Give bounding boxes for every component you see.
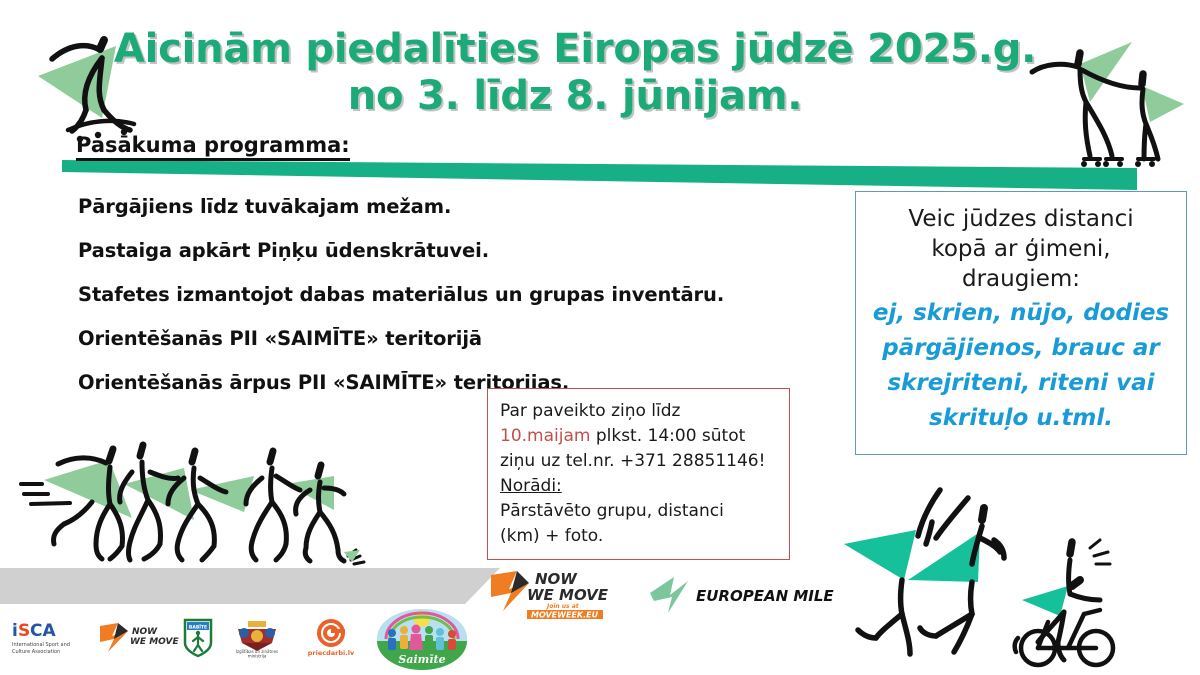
nwm-tag: MOVEWEEK.EU [531, 611, 599, 620]
callout-head-line-1: Veic jūdzes distanci [866, 204, 1176, 234]
babite-label: BABĪTE [189, 624, 207, 631]
sponsor-saimite-kindergarten: Saimīte [376, 607, 468, 669]
now-we-move-mark-icon [491, 571, 529, 611]
callout-body-line-4: skrituļo u.tml. [866, 403, 1176, 434]
european-mile-mark-icon [650, 577, 688, 613]
sponsor-ministry-of-education: Izglītības un zinātnes ministrija [228, 617, 286, 659]
norade-label: Norādi: [500, 476, 562, 496]
title-line-2: no 3. līdz 8. jūnijam. [110, 73, 1040, 120]
sponsor-isca: i S CA International Sport and Culture A… [8, 616, 84, 660]
nwm-small-mark-icon [100, 623, 128, 652]
title-line-1: Aicinām piedalīties Eiropas jūdzē 2025.g… [110, 26, 1040, 73]
now-we-move-logo: NOW WE MOVE Join us at MOVEWEEK.EU [487, 567, 637, 621]
priecdarbi-text: priecdarbi.lv [308, 649, 355, 657]
poster-title: Aicinām piedalīties Eiropas jūdzē 2025.g… [110, 26, 1040, 120]
ministry-crest-icon [238, 621, 276, 651]
program-item: Pastaiga apkārt Piņķu ūdenskrātuvei. [78, 239, 868, 262]
green-triangle-shape [286, 476, 334, 510]
contact-line-4: Pārstāvēto grupu, distanci [500, 499, 777, 524]
deadline-rest: plkst. 14:00 sūtot [590, 426, 745, 446]
nwm-small-l1: NOW [132, 627, 158, 637]
deadline-date: 10.maijam [500, 426, 590, 446]
contact-line-1: Par paveikto ziņo līdz [500, 399, 777, 424]
green-divider-wedge [62, 160, 1137, 190]
green-triangle-shape [1022, 586, 1068, 616]
roller-skaters-illustration [1024, 26, 1200, 176]
sponsor-now-we-move-small: NOW WE MOVE [98, 620, 168, 656]
callout-head-line-3: draugiem: [866, 264, 1176, 294]
priecdarbi-spiral-icon [319, 621, 345, 645]
isca-text: i [12, 621, 18, 641]
european-mile-text: EUROPEAN MILE [696, 587, 834, 605]
green-triangle-shape [844, 530, 916, 580]
green-triangle-shape [1142, 86, 1184, 122]
callout-body-line-1: ej, skrien, nūjo, dodies [866, 298, 1176, 329]
callout-body-line-2: pārgājienos, brauc ar [866, 333, 1176, 364]
program-heading: Pasākuma programma: [76, 133, 350, 161]
european-mile-logo: EUROPEAN MILE [648, 575, 798, 617]
poster-canvas: Aicinām piedalīties Eiropas jūdzē 2025.g… [0, 0, 1200, 675]
saimite-label: Saimīte [398, 653, 445, 666]
contact-label: Norādi: [500, 474, 777, 499]
callout-head-line-2: kopā ar ģimeni, [866, 234, 1176, 264]
ministry-sub-2: ministrija [248, 654, 267, 659]
isca-sub-2: Culture Association [12, 649, 60, 655]
program-item: Orientēšanās PII «SAIMĪTE» teritorijā [78, 327, 868, 350]
isca-s: S [18, 621, 30, 641]
contact-deadline-line: 10.maijam plkst. 14:00 sūtot [500, 424, 777, 449]
green-triangle-shape [908, 532, 980, 582]
contact-phone-line: ziņu uz tel.nr. +371 28851146! [500, 449, 777, 474]
dancers-and-cyclist-illustration [832, 482, 1200, 674]
program-item: Stafetes izmantojot dabas materiālus un … [78, 283, 868, 306]
program-list: Pārgājiens līdz tuvākajam mežam. Pastaig… [78, 195, 868, 415]
program-item: Pārgājiens līdz tuvākajam mežam. [78, 195, 868, 218]
callout-body-line-3: skrejriteni, riteni vai [866, 368, 1176, 399]
contact-line-5: (km) + foto. [500, 524, 777, 549]
participation-callout-box: Veic jūdzes distanci kopā ar ģimeni, dra… [855, 191, 1187, 455]
nwm-line2: WE MOVE [527, 586, 609, 604]
nwm-tag-small: Join us at [546, 603, 580, 610]
isca-sub-1: International Sport and [12, 642, 70, 648]
sponsor-priecdarbi: priecdarbi.lv [300, 617, 362, 659]
nwm-small-l2: WE MOVE [130, 637, 179, 647]
sponsor-logo-row: i S CA International Sport and Culture A… [8, 606, 418, 670]
runners-illustration [4, 432, 404, 572]
sponsor-babite-coat-of-arms: BABĪTE [182, 617, 214, 659]
reporting-instructions-box: Par paveikto ziņo līdz 10.maijam plkst. … [487, 388, 790, 560]
gray-footer-strip [0, 568, 500, 604]
isca-ca: CA [30, 621, 56, 641]
